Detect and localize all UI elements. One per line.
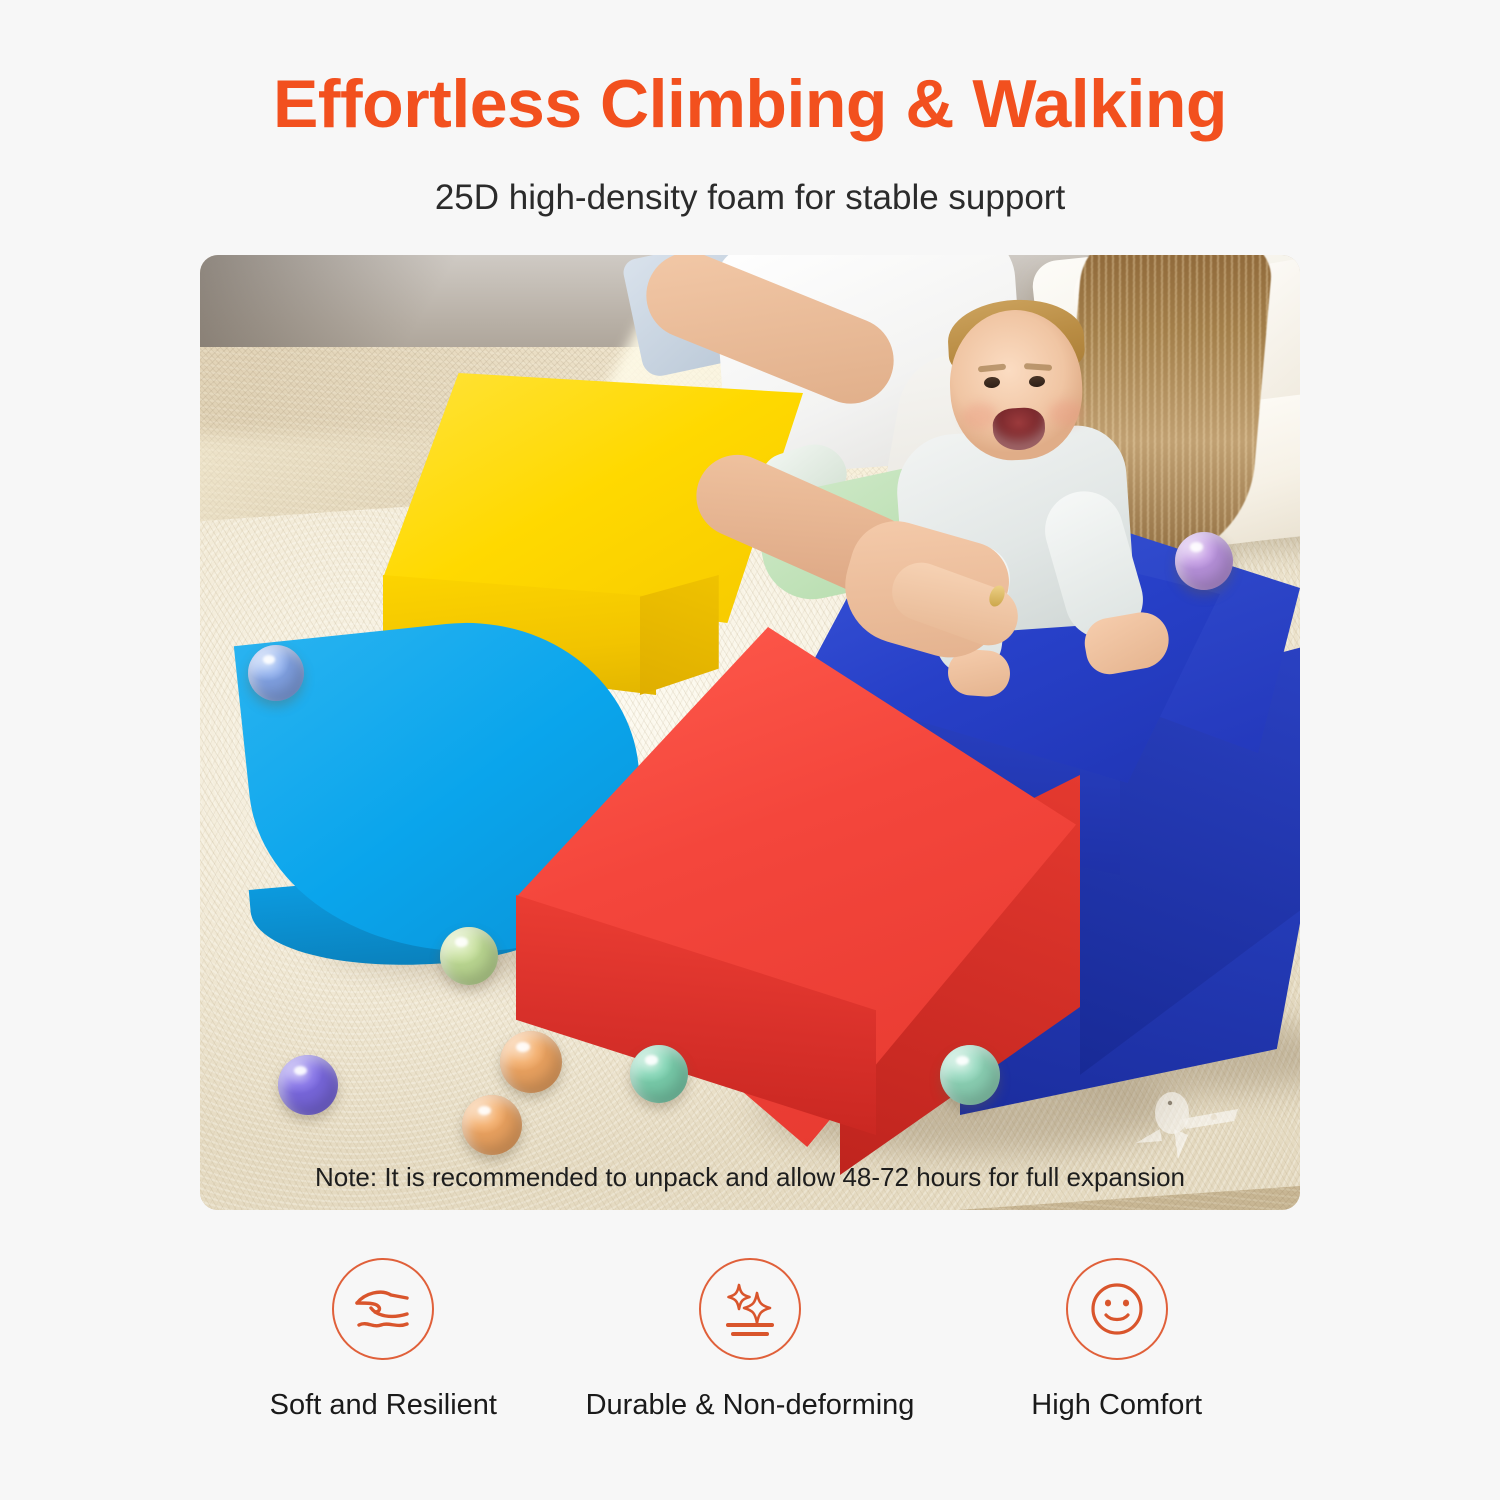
feature-label: High Comfort bbox=[1031, 1387, 1202, 1423]
ball-green bbox=[440, 927, 498, 985]
expansion-note: Note: It is recommended to unpack and al… bbox=[200, 1160, 1300, 1194]
bird-watermark bbox=[1130, 1085, 1250, 1165]
ball-mint-1 bbox=[630, 1045, 688, 1103]
ball-mint-2 bbox=[940, 1045, 1000, 1105]
ball-blue bbox=[248, 645, 304, 701]
feature-icon-circle bbox=[1066, 1258, 1168, 1360]
soft-hand-wave-icon bbox=[347, 1273, 419, 1345]
feature-icon-circle bbox=[699, 1258, 801, 1360]
feature-label: Durable & Non-deforming bbox=[586, 1387, 915, 1423]
ball-peach-2 bbox=[462, 1095, 522, 1155]
ball-peach-1 bbox=[500, 1031, 562, 1093]
sparkle-lines-icon bbox=[714, 1273, 786, 1345]
feature-durable-non-deforming: Durable & Non-deforming bbox=[567, 1258, 934, 1458]
page-subtitle: 25D high-density foam for stable support bbox=[0, 175, 1500, 221]
page-title: Effortless Climbing & Walking bbox=[0, 62, 1500, 146]
ball-purple bbox=[278, 1055, 338, 1115]
baby-cheek bbox=[1048, 400, 1084, 426]
smiley-face-icon bbox=[1081, 1273, 1153, 1345]
feature-list: Soft and Resilient Durable & Non-deformi… bbox=[200, 1258, 1300, 1458]
feature-icon-circle bbox=[332, 1258, 434, 1360]
product-feature-page: Effortless Climbing & Walking 25D high-d… bbox=[0, 0, 1500, 1500]
product-lifestyle-photo: Note: It is recommended to unpack and al… bbox=[200, 255, 1300, 1210]
feature-soft-and-resilient: Soft and Resilient bbox=[200, 1258, 567, 1458]
ball-lilac bbox=[1175, 532, 1233, 590]
feature-high-comfort: High Comfort bbox=[933, 1258, 1300, 1458]
feature-label: Soft and Resilient bbox=[270, 1387, 497, 1423]
